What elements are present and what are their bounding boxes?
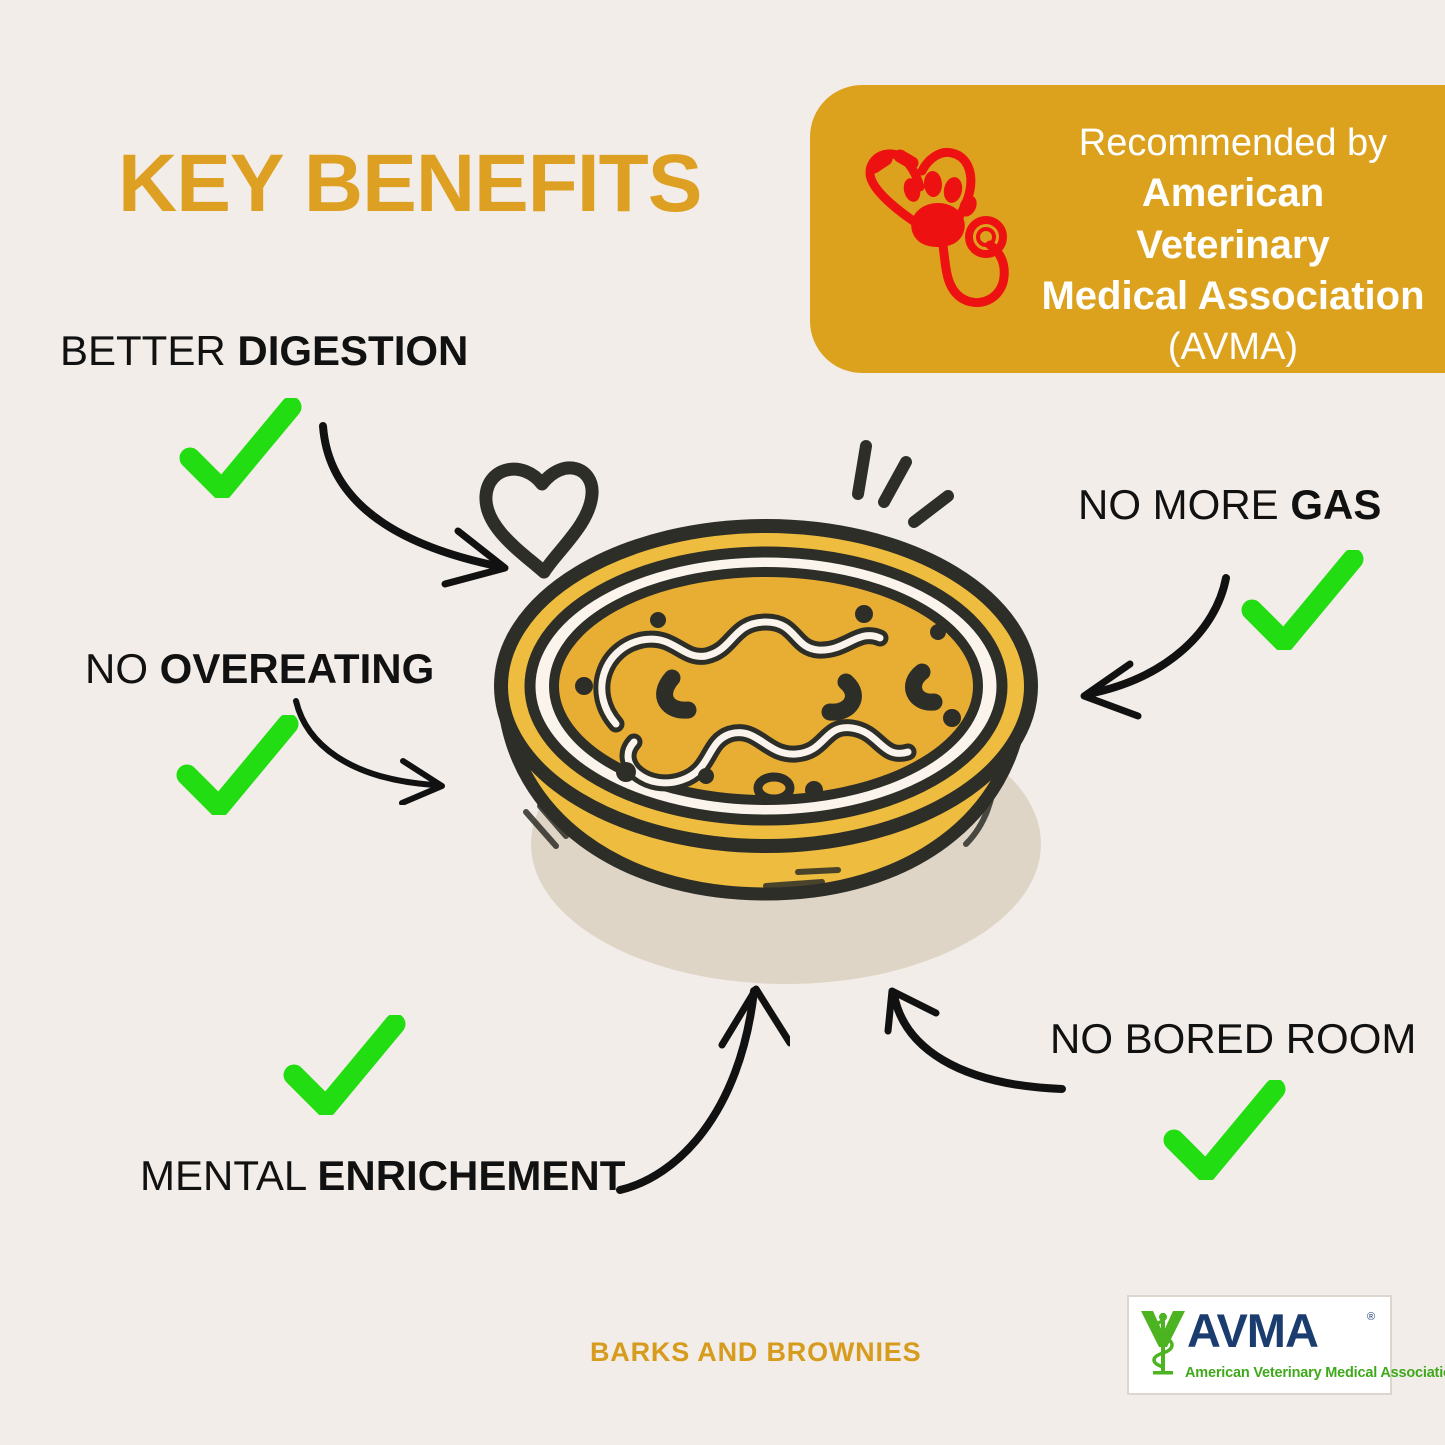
benefit-label-gas-lead: NO MORE xyxy=(1078,481,1290,528)
benefit-label-digestion: BETTER DIGESTION xyxy=(60,330,468,372)
benefit-label-bored-room: NO BORED ROOM xyxy=(1050,1018,1416,1060)
badge-line-recommended-by: Recommended by xyxy=(1040,119,1426,168)
badge-line-organization-2: Medical Association xyxy=(1040,271,1426,323)
benefit-label-gas: NO MORE GAS xyxy=(1078,484,1381,526)
page-title: KEY BENEFITS xyxy=(118,143,701,225)
avma-tagline: American Veterinary Medical Association xyxy=(1185,1365,1445,1381)
avma-wordmark: AVMA xyxy=(1187,1307,1318,1354)
checkmark-icon-digestion xyxy=(178,398,303,498)
caduceus-icon xyxy=(1137,1307,1189,1375)
registered-mark-icon: ® xyxy=(1367,1311,1375,1323)
benefit-label-gas-emph: GAS xyxy=(1290,481,1381,528)
stethoscope-heart-paw-icon xyxy=(850,143,1030,313)
checkmark-icon-overeating xyxy=(175,715,300,815)
badge-line-acronym: (AVMA) xyxy=(1040,323,1426,372)
heart-doodle xyxy=(486,468,592,572)
benefit-label-enrichment-emph: ENRICHEMENT xyxy=(317,1152,625,1199)
benefit-label-enrichment: MENTAL ENRICHEMENT xyxy=(140,1155,625,1197)
infographic-canvas: KEY BENEFITS xyxy=(0,0,1445,1445)
sparkle-lines xyxy=(858,446,948,522)
benefit-label-overeating: NO OVEREATING xyxy=(85,648,434,690)
benefit-label-overeating-emph: OVEREATING xyxy=(160,645,435,692)
arrow-icon-enrichment xyxy=(610,985,790,1200)
dog-bowl-illustration xyxy=(466,424,1066,994)
checkmark-icon-enrichment xyxy=(282,1015,407,1115)
recommendation-badge-text: Recommended by American Veterinary Medic… xyxy=(1040,119,1426,372)
benefit-label-overeating-lead: NO xyxy=(85,645,160,692)
avma-logo: AVMA ® American Veterinary Medical Assoc… xyxy=(1127,1295,1392,1395)
recommendation-badge: Recommended by American Veterinary Medic… xyxy=(810,85,1445,373)
benefit-label-enrichment-lead: MENTAL xyxy=(140,1152,317,1199)
checkmark-icon-bored-room xyxy=(1162,1080,1287,1180)
brand-name: BARKS AND BROWNIES xyxy=(590,1337,921,1368)
benefit-label-digestion-lead: BETTER xyxy=(60,327,237,374)
benefit-label-bored-room-lead: NO BORED ROOM xyxy=(1050,1015,1416,1062)
benefit-label-digestion-emph: DIGESTION xyxy=(237,327,468,374)
badge-line-organization-1: American Veterinary xyxy=(1040,168,1426,271)
arrow-icon-bored-room xyxy=(880,985,1070,1110)
arrow-icon-gas xyxy=(1070,560,1280,730)
arrow-icon-overeating xyxy=(290,695,450,805)
